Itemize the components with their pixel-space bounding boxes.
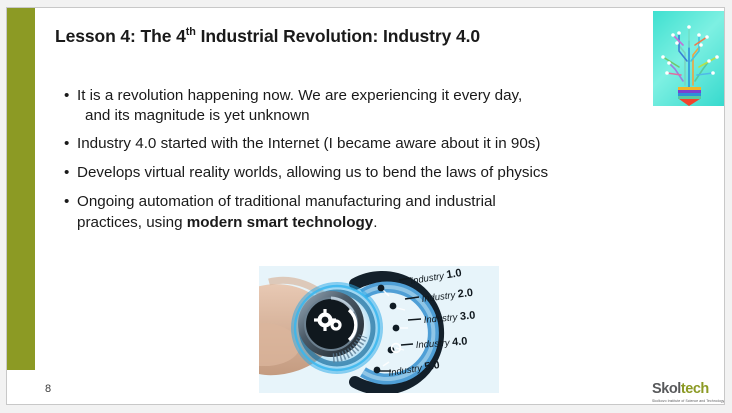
bullet-dot-icon: •	[64, 86, 69, 106]
bullet-dot-icon: •	[64, 163, 69, 183]
bullet-4-line-2-post: .	[373, 214, 377, 231]
bullet-1-line-1: It is a revolution happening now. We are…	[77, 87, 522, 104]
bullet-list: •It is a revolution happening now. We ar…	[63, 86, 693, 233]
bullet-4-line-1: Ongoing automation of traditional manufa…	[77, 193, 496, 210]
bullet-4-line-2-pre: practices, using	[77, 214, 187, 231]
logo-name-part2: tech	[681, 381, 709, 397]
bullet-4-emphasis: modern smart technology	[187, 214, 374, 231]
circuit-lightbulb-icon	[653, 11, 725, 106]
skoltech-logo: Skoltech Skolkovo Institute of Science a…	[652, 382, 725, 403]
page-number: 8	[45, 383, 51, 395]
page-title: Lesson 4: The 4th Industrial Revolution:…	[55, 26, 655, 47]
title-prefix: Lesson 4: The 4	[55, 26, 186, 46]
circuit-lightbulb-image	[653, 11, 725, 106]
slide: Lesson 4: The 4th Industrial Revolution:…	[6, 7, 725, 405]
title-superscript: th	[186, 26, 196, 38]
bullet-4-line-2: practices, using modern smart technology…	[77, 213, 693, 233]
list-item: •Develops virtual reality worlds, allowi…	[63, 163, 693, 183]
logo-wordmark: Skoltech	[652, 382, 725, 397]
bullet-1-line-2: and its magnitude is yet unknown	[77, 106, 693, 126]
logo-name-part1: Skol	[652, 381, 681, 397]
industry-dial-image: Industry 1.0 Industry 2.0 Industry 3.0 I…	[259, 266, 499, 393]
slide-canvas: Lesson 4: The 4th Industrial Revolution:…	[0, 0, 732, 413]
logo-tagline: Skolkovo Institute of Science and Techno…	[652, 399, 725, 403]
bullet-2-line-1: Industry 4.0 started with the Internet (…	[77, 135, 540, 152]
bullet-dot-icon: •	[64, 134, 69, 154]
list-item: •Industry 4.0 started with the Internet …	[63, 134, 693, 154]
list-item: •Ongoing automation of traditional manuf…	[63, 192, 693, 233]
bullet-3-line-1: Develops virtual reality worlds, allowin…	[77, 164, 548, 181]
industry-dial-illustration: Industry 1.0 Industry 2.0 Industry 3.0 I…	[259, 266, 499, 393]
bullet-dot-icon: •	[64, 192, 69, 212]
title-suffix: Industrial Revolution: Industry 4.0	[196, 26, 480, 46]
list-item: •It is a revolution happening now. We ar…	[63, 86, 693, 127]
left-accent-bar	[7, 8, 35, 370]
